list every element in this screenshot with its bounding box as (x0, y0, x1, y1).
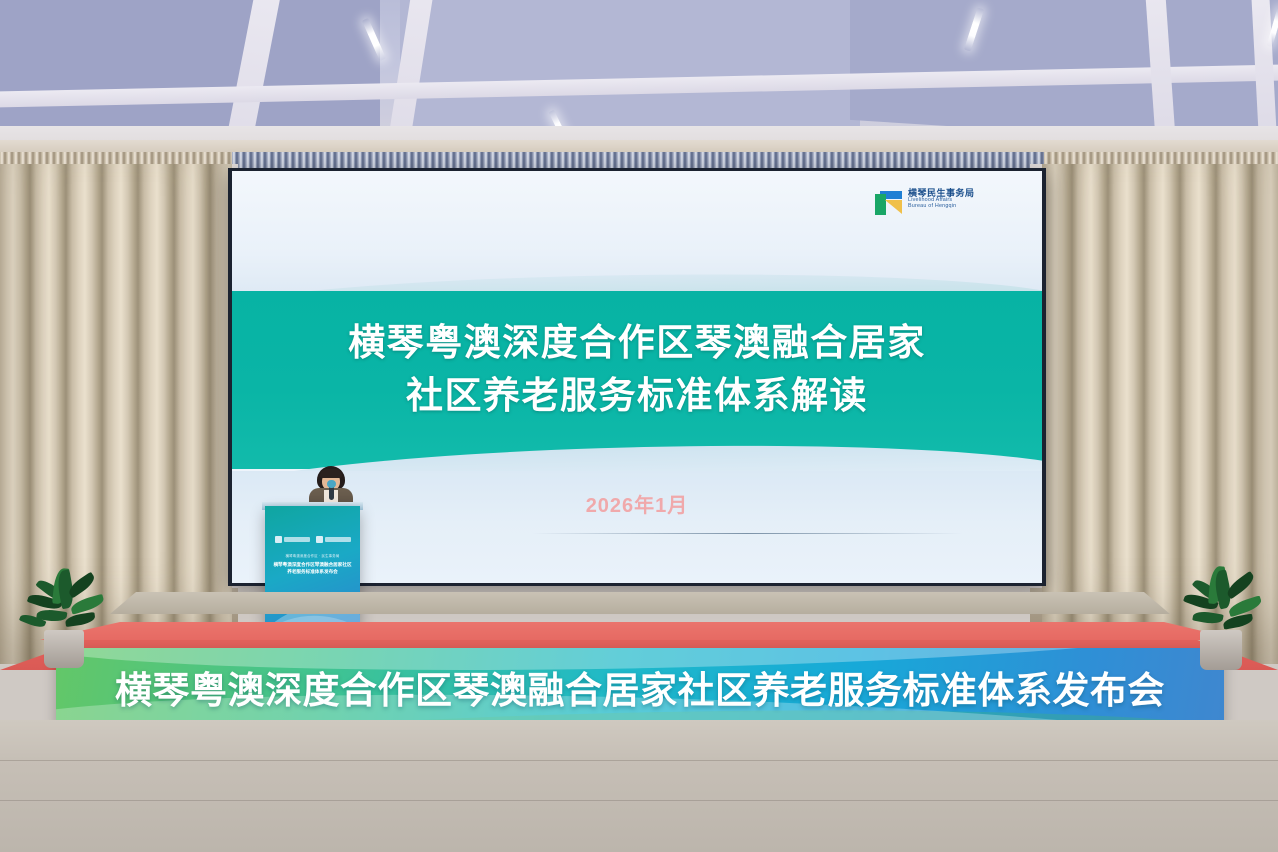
podium-main-line2: 养老服务标准体系发布会 (269, 568, 356, 575)
banner-title: 横琴粤澳深度合作区琴澳融合居家社区养老服务标准体系发布会 (56, 660, 1224, 714)
plant-leaf (1222, 614, 1253, 630)
podium: 横琴粤澳深度合作区 · 民生事务局 横琴粤澳深度合作区琴澳融合居家社区 养老服务… (265, 506, 360, 642)
screen-divider-rule (532, 533, 962, 534)
floor-seam-2 (0, 800, 1278, 801)
conference-hall-photo: 横琴民生事务局 Livelihood Affairs Bureau of Hen… (0, 0, 1278, 852)
plant-pot-left (44, 630, 84, 668)
podium-logo-right-icon (316, 536, 351, 543)
podium-subtitle: 横琴粤澳深度合作区 · 民生事务局 (269, 553, 356, 558)
screen-title: 横琴粤澳深度合作区琴澳融合居家 社区养老服务标准体系解读 (232, 317, 1042, 422)
plant-leaf (1192, 610, 1223, 626)
stage-riser (110, 592, 1170, 614)
hall-floor (0, 720, 1278, 852)
screen-logo: 横琴民生事务局 Livelihood Affairs Bureau of Hen… (874, 189, 975, 217)
potted-plant-left (18, 556, 138, 666)
microphone-head-icon (327, 480, 336, 488)
logo-yellow-arrow (885, 200, 902, 214)
podium-main-line1: 横琴粤澳深度合作区琴澳融合居家社区 (269, 561, 356, 568)
stage-front-banner: 横琴粤澳深度合作区琴澳融合居家社区养老服务标准体系发布会 (56, 648, 1224, 726)
podium-main-text: 横琴粤澳深度合作区琴澳融合居家社区 养老服务标准体系发布会 (269, 561, 356, 575)
podium-logos (272, 536, 354, 543)
screen-title-line2: 社区养老服务标准体系解读 (232, 370, 1042, 423)
potted-plant-right (1176, 556, 1278, 666)
plant-leaf (65, 612, 96, 627)
podium-logo-left-icon (275, 536, 310, 543)
floor-seam-1 (0, 760, 1278, 761)
screen-title-line1: 横琴粤澳深度合作区琴澳融合居家 (232, 317, 1042, 370)
speaker-fringe (320, 469, 342, 478)
plant-pot-right (1200, 630, 1242, 670)
logo-green-block (875, 194, 886, 215)
logo-english-line2: Bureau of Hengqin (908, 204, 975, 210)
hengqin-bureau-logo-icon (874, 189, 903, 217)
